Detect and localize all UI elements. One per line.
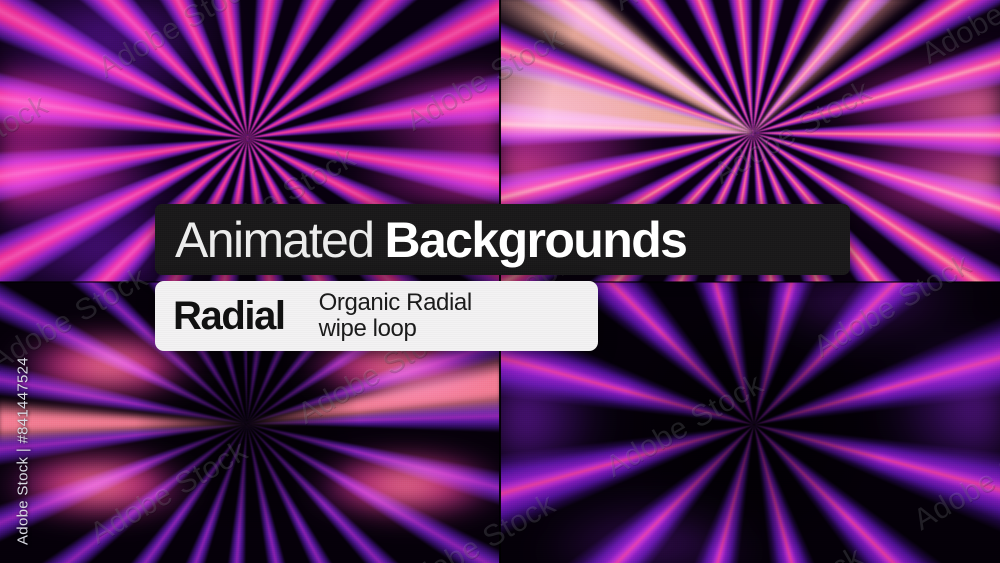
preset-description-line-1: Organic Radial — [319, 290, 472, 316]
preset-name-label: Radial — [173, 296, 285, 336]
info-card: Radial Organic Radial wipe loop — [155, 281, 598, 351]
preset-description: Organic Radial wipe loop — [319, 290, 472, 342]
title-word-bold: Backgrounds — [384, 215, 686, 265]
title-word-light: Animated — [175, 215, 373, 265]
stock-preview-canvas: Adobe StockAdobe StockAdobe StockAdobe S… — [0, 0, 1000, 563]
title-bar: Animated Backgrounds — [155, 204, 850, 275]
preset-description-line-2: wipe loop — [319, 316, 472, 342]
